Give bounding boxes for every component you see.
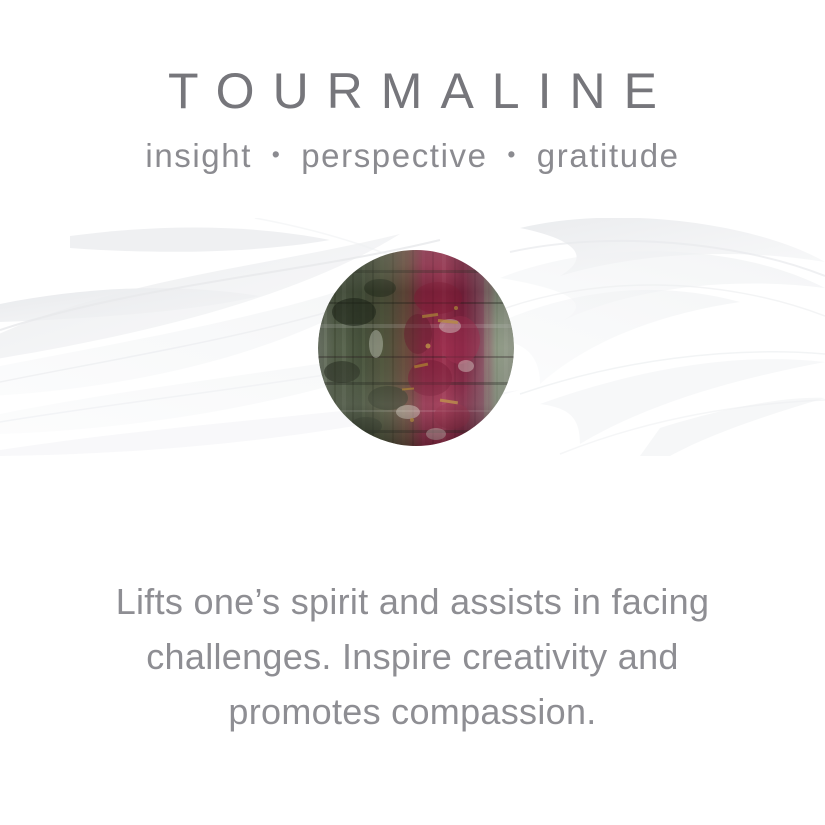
keyword-list: insight • perspective • gratitude xyxy=(0,139,825,172)
description-text: Lifts one’s spirit and assists in facing… xyxy=(62,574,763,739)
keyword-perspective: perspective xyxy=(301,137,487,174)
tourmaline-gem-graphic xyxy=(318,248,514,448)
description-line-2: challenges. Inspire creativity and xyxy=(62,629,763,684)
crystal-meaning-card: TOURMALINE insight • perspective • grati… xyxy=(0,0,825,825)
gemstone-image xyxy=(318,248,514,448)
page-title: TOURMALINE xyxy=(0,66,825,116)
card-header: TOURMALINE insight • perspective • grati… xyxy=(0,0,825,218)
bullet-separator-icon: • xyxy=(498,143,526,166)
bullet-separator-icon: • xyxy=(263,143,291,166)
description-line-3: promotes compassion. xyxy=(62,684,763,739)
description-line-1: Lifts one’s spirit and assists in facing xyxy=(62,574,763,629)
keyword-insight: insight xyxy=(145,137,252,174)
keyword-gratitude: gratitude xyxy=(537,137,680,174)
